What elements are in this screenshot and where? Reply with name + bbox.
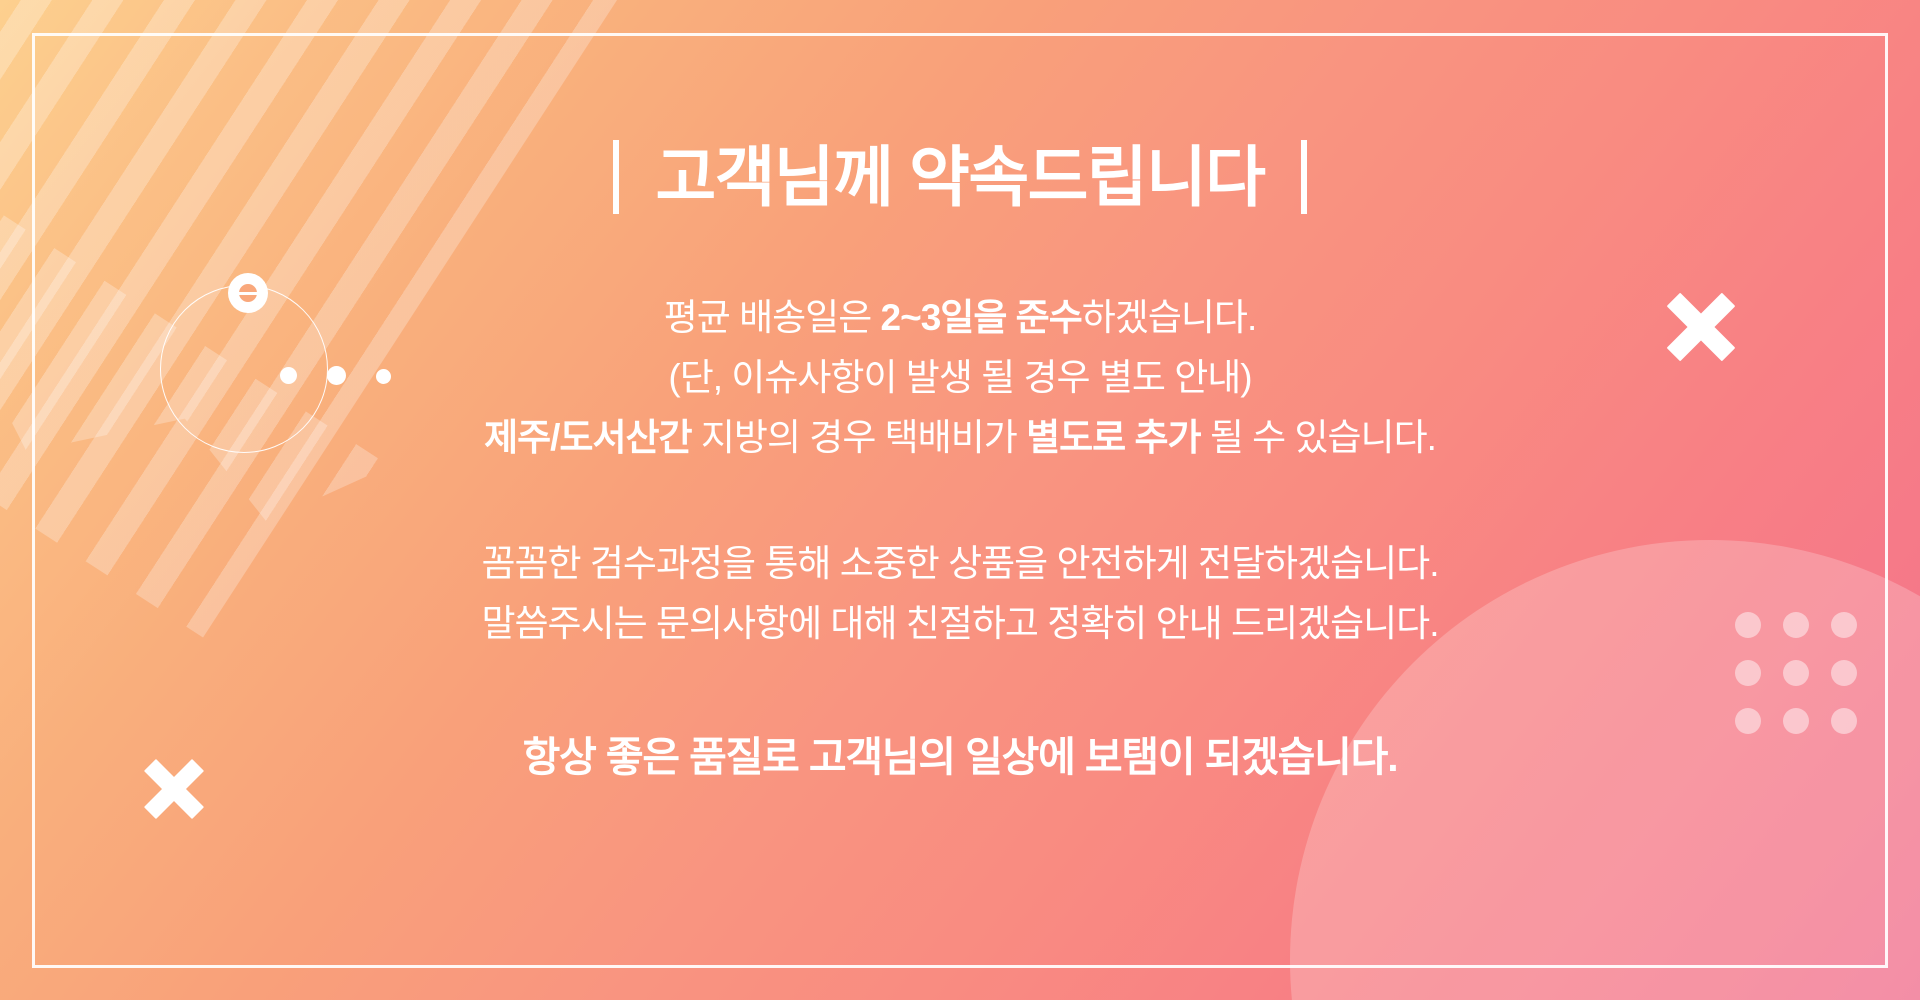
banner-title-row: 고객님께 약속드립니다 xyxy=(613,140,1306,214)
delivery-line-1-pre: 평균 배송일은 xyxy=(664,297,881,338)
delivery-line-3-post: 될 수 있습니다. xyxy=(1201,417,1436,458)
promotion-banner: 고객님께 약속드립니다 평균 배송일은 2~3일을 준수하겠습니다. (단, 이… xyxy=(0,0,1920,1000)
delivery-line-1: 평균 배송일은 2~3일을 준수하겠습니다. xyxy=(484,288,1436,348)
closing-line: 항상 좋은 품질로 고객님의 일상에 보탬이 되겠습니다. xyxy=(523,724,1398,790)
service-promise-block: 꼼꼼한 검수과정을 통해 소중한 상품을 안전하게 전달하겠습니다. 말씀주시는… xyxy=(481,534,1438,654)
service-line-2: 말씀주시는 문의사항에 대해 친절하고 정확히 안내 드리겠습니다. xyxy=(481,594,1438,654)
delivery-line-3: 제주/도서산간 지방의 경우 택배비가 별도로 추가 될 수 있습니다. xyxy=(484,408,1436,468)
delivery-line-3-mid: 지방의 경우 택배비가 xyxy=(692,417,1026,458)
delivery-line-2: (단, 이슈사항이 발생 될 경우 별도 안내) xyxy=(484,348,1436,408)
closing-statement-block: 항상 좋은 품질로 고객님의 일상에 보탬이 되겠습니다. xyxy=(523,724,1398,790)
title-bar-right-icon xyxy=(1301,140,1307,214)
delivery-line-1-bold: 2~3일을 준수 xyxy=(881,297,1082,338)
banner-content: 고객님께 약속드립니다 평균 배송일은 2~3일을 준수하겠습니다. (단, 이… xyxy=(0,0,1920,1000)
page-title: 고객님께 약속드립니다 xyxy=(655,144,1264,210)
delivery-line-1-post: 하겠습니다. xyxy=(1082,297,1256,338)
delivery-promise-block: 평균 배송일은 2~3일을 준수하겠습니다. (단, 이슈사항이 발생 될 경우… xyxy=(484,288,1436,468)
delivery-line-3-bold-2: 별도로 추가 xyxy=(1026,417,1200,458)
title-bar-left-icon xyxy=(613,140,619,214)
delivery-line-3-bold-1: 제주/도서산간 xyxy=(484,417,692,458)
service-line-1: 꼼꼼한 검수과정을 통해 소중한 상품을 안전하게 전달하겠습니다. xyxy=(481,534,1438,594)
